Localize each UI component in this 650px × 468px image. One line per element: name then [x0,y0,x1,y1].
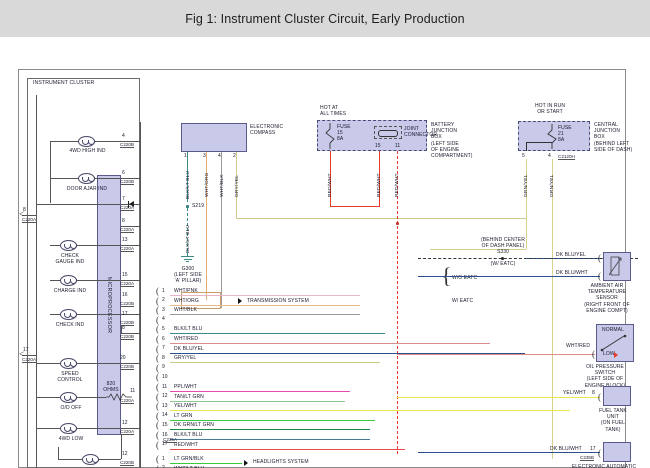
connector-bracket: ( [156,401,159,411]
joint-connector-label: JOINT CONNECTOR [404,126,437,138]
connector-bracket: ( [592,349,595,359]
cjb-pin-5: 5 [522,153,525,159]
harness-pin-number: 1 [162,288,165,294]
connector-label: C220B [120,334,134,340]
indicator-label-4wd-low: 4WD LOW [48,436,94,442]
splice-label-s219: S219 [192,203,204,209]
connector-bracket: ( [156,286,159,296]
wire-label-grn-yel-1: GRN/YEL [524,175,529,197]
harness-wire-run [170,401,345,402]
harness-pin-number: 1 [162,456,165,462]
connector-label: C220A [120,246,134,252]
lamp-drop [58,447,59,459]
harness-wire-label: WHT/BLK [174,307,197,313]
oil-pressure-arrow [614,352,618,358]
indicator-lamp [60,423,77,434]
connector-bracket: ( [156,372,159,382]
connector-label: C220B [120,364,134,370]
connector-bracket: ( [156,464,159,468]
cjb-connector-label: C2120H [558,154,575,160]
resistor-value-label: 820 OHMS [98,381,124,393]
wire-grn-yel-1 [526,159,527,249]
wire-label-red-wht-1: RED/WHT [328,173,333,197]
splice-dot [396,222,399,225]
indicator-lamp [60,358,77,369]
harness-wire-label: YEL/WHT [174,403,197,409]
harness-wire-run [170,314,360,315]
harness-wire-run [170,353,525,354]
instrument-cluster-title: INSTRUMENT CLUSTER [33,80,94,86]
wire-label-wht-org: WHT/ORG [205,172,210,197]
harness-wire-run [170,305,360,306]
cjb-pin-4: 4 [548,153,551,159]
harness-pin-number: 12 [162,393,168,399]
wire-label-blk-ltblu-gnd: BLK/LT BLU [186,225,191,253]
eatc-module-connector: C235B [580,455,594,461]
cjb-fuse-label: FUSE 21 8A [558,125,572,144]
harness-pin-number: 2 [162,297,165,303]
connector-bracket: ( [156,454,159,464]
harness-pin-number: 4 [162,316,165,322]
cjb-name-label: CENTRAL JUNCTION BOX (BEHIND LEFT SIDE O… [594,122,632,153]
harness-wire-label: WHT/ORG [174,298,199,304]
cjb-hot-label: HOT IN RUN OR START [520,103,580,115]
connector-label: C220A [22,217,36,223]
harness-pin-number: 15 [162,422,168,428]
transmission-system-label: TRANSMISSION SYSTEM [247,298,309,304]
splice-dot-s330 [501,257,504,260]
indicator-label-check-gauge: CHECK GAUGE IND [44,253,96,265]
electronic-compass-label: ELECTRONIC COMPASS [250,124,283,136]
connector-bracket: ( [598,253,601,263]
wire-label-dk-blu-wht-eatc: DK BLU/WHT [550,446,582,452]
left-pin-line [22,215,36,216]
eatc-branch-w: W/ EATC [452,298,473,304]
harness-wire-label: BLK/LT BLU [174,326,202,332]
splice-s330-note: (W/ EATC) [481,261,525,267]
harness-pin-number: 7 [162,345,165,351]
harness-wire-run [170,429,370,430]
harness-wire-run [170,343,490,344]
connector-label: C220A [120,281,134,287]
connector-bracket: ( [156,420,159,430]
wiring-diagram-canvas: INSTRUMENT CLUSTER MICROPROCESSOR 4WD HI… [0,37,650,468]
pin-number: 11 [130,388,135,394]
harness-wire-run [170,449,405,450]
harness-pin-number: 11 [162,384,167,390]
wire-label-grn-yel-2: GRN/YEL [550,175,555,197]
indicator-lamp [60,309,77,320]
indicator-label-charge: CHARGE IND [44,288,96,294]
harness-wire-label: GRY/YEL [174,355,196,361]
connector-bracket: ( [156,363,159,373]
wire-label-dk-blu-yel: DK BLU/YEL [556,252,586,258]
harness-c235a-connector-label: C235A [163,437,177,443]
connector-bracket: ( [156,382,159,392]
harness-wire-run [170,333,385,334]
cjb-internal-bus [526,142,552,143]
connector-label: C220B [120,179,134,185]
pin-number: 8 [122,218,125,224]
indicator-label-door-ajar: DOOR AJAR IND [58,186,116,192]
harness-wire-label: PPL/WHT [174,384,197,390]
cluster-right-rail [140,122,141,468]
bjb-name-label: BATTERY JUNCTION BOX (LEFT SIDE OF ENGIN… [431,122,473,159]
pin-number: 6 [122,170,125,176]
eatc-module-label: ELECTRONIC AUTOMATIC TEMPERATURE CONTROL… [560,464,648,468]
harness-wire-label: DK BLU/YEL [174,346,204,352]
ambient-air-temp-sensor-label: AMBIENT AIR TEMPERATURE SENSOR (RIGHT FR… [566,283,648,314]
connector-bracket: ( [598,448,601,458]
harness-wire-run [170,391,350,392]
harness-wire-run [170,439,370,440]
indicator-lamp [82,454,99,465]
harness-pin-number: 9 [162,364,165,370]
pin-number: 13 [122,237,128,243]
pin-number: 17 [122,311,128,317]
pin-number: 15 [122,272,128,278]
harness-wire-label: WHT/RED [174,336,198,342]
system-feed-label: HEADLIGHTS SYSTEM [253,459,309,465]
fuel-tank-unit-label: FUEL TANK UNIT (ON FUEL TANK) [580,408,646,433]
wire-label-wht-blk: WHT/BLK [220,174,225,197]
harness-wire-label: WHT/PNK [174,288,198,294]
pin-number: 12 [122,451,128,457]
connector-label: C220B [120,460,134,466]
lamp-drop [50,141,51,203]
eatc-module-box [603,442,631,462]
connector-bracket: < [19,209,24,219]
connector-bracket: ( [156,430,159,440]
connector-bracket: < [19,349,24,359]
indicator-label-4wd-high: 4WD HIGH IND [60,148,115,154]
splice-s330-label: (BEHIND CENTER OF DASH PANEL) S330 [468,237,538,256]
pin-number: 16 [122,292,128,298]
connector-label: C220B [120,301,134,307]
harness-wire-label: LT GRN [174,413,192,419]
wire-gry-yel-run [236,218,526,219]
bjb-pin-11: 11 [395,143,400,149]
eatc-module-pin: 17 [590,446,596,452]
fuse-symbol [547,124,557,149]
wire-label-gry-yel: GRY/YEL [235,175,240,197]
connector-bracket: ( [598,271,601,281]
harness-pin-number: 3 [162,307,165,313]
connector-bracket: ( [156,344,159,354]
connector-bracket: ( [598,392,601,402]
harness-wire-label: BLK/LT BLU [174,432,202,438]
cjb-internal-drop [526,142,527,151]
fuse-symbol [325,123,335,149]
fuel-tank-unit-box [603,386,631,406]
connector-bracket: ( [156,392,159,402]
wire-label-red-wht-2: RED/WHT [377,173,382,197]
transmission-system-arrow [238,298,242,304]
wire-wht-red [397,354,595,355]
ground-symbol-g300 [181,256,194,264]
pin-number: 4 [122,133,125,139]
harness-pin-number: 10 [162,374,168,380]
indicator-lamp [78,136,95,147]
connector-bracket: ( [156,353,159,363]
wire-yel-wht [397,397,600,398]
indicator-lamp [78,173,95,184]
connector-bracket: ( [156,315,159,325]
system-feed-arrow [244,460,248,466]
harness-wire-label: LT GRN/BLK [174,456,204,462]
harness-wire-run [170,362,380,363]
wire-grn-yel-2 [552,159,553,459]
indicator-label-od-off: O/D OFF [50,405,92,411]
pin-number: 7 [122,196,125,202]
harness-wire-label: TAN/LT GRN [174,394,204,400]
connector-label: C220A [120,205,134,211]
joint-connector-inner [378,130,398,137]
connector-bracket: ( [156,296,159,306]
fuel-tank-unit-pin: 8 [592,390,595,396]
left-pin-line [22,355,36,356]
harness-wire-run [170,463,242,464]
wire-label-blk-ltblu: BLK/LT BLU [186,171,191,199]
harness-wire-label: DK GRN/LT GRN [174,422,214,428]
harness-pin-number: 5 [162,326,165,332]
wire-label-dk-blu-wht: DK BLU/WHT [556,270,588,276]
wire-label-red-wht-feed: RED/WHT [395,173,400,197]
thermistor-symbol [609,256,625,277]
indicator-lamp [60,275,77,286]
pin-number: 12 [122,420,128,426]
connector-label: C220A [120,227,134,233]
wire-label-wht-red: WHT/RED [566,343,590,349]
harness-wire-label: RED/WHT [174,442,198,448]
oil-pressure-state-normal: NORMAL [602,327,624,333]
connector-label: C220A [22,357,36,363]
bjb-hot-label: HOT AT ALL TIMES [320,105,346,117]
connector-bracket: ( [156,324,159,334]
connector-label: C220A [120,429,134,435]
wire-label-yel-wht: YEL/WHT [563,390,586,396]
harness-pin-number: 6 [162,336,165,342]
indicator-label-speed-control: SPEED CONTROL [44,371,96,383]
indicator-label-check: CHECK IND [44,322,96,328]
electronic-compass-box [181,123,247,152]
microprocessor-label: MICROPROCESSOR [106,277,112,334]
connector-bracket: ( [156,440,159,450]
pin-number: 20 [120,355,126,361]
harness-pin-number: 8 [162,355,165,361]
connector-bracket: ( [156,305,159,315]
figure-title: Fig 1: Instrument Cluster Circuit, Early… [0,0,650,37]
connector-label: C220A [120,398,134,404]
cluster-left-rail [36,95,37,468]
harness-wire-run [170,295,360,296]
pin-number: 8 [122,325,125,331]
connector-label: C220B [120,142,134,148]
harness-pin-number: 13 [162,403,168,409]
harness-pin-number: 14 [162,412,168,418]
connector-bracket: ( [156,334,159,344]
indicator-lamp [60,240,77,251]
harness-wire-run [170,420,375,421]
indicator-lamp [60,392,77,403]
bjb-fuse-label: FUSE 15 8A [337,124,351,143]
connector-bracket: ( [156,411,159,421]
bjb-pin-15: 15 [375,143,381,149]
wire-red-wht-bottom [330,206,380,207]
harness-wire-run [170,410,570,411]
